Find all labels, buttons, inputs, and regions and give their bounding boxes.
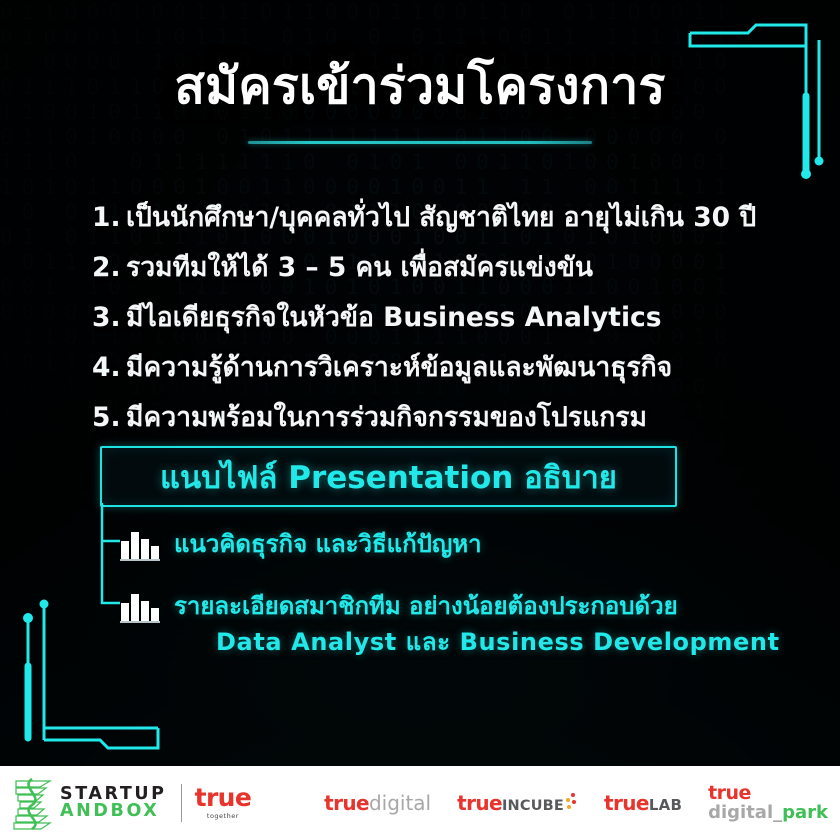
page-title: สมัครเข้าร่วมโครงการ bbox=[0, 58, 840, 116]
truedigital-digital: digital bbox=[369, 791, 431, 815]
tdp-park: park bbox=[782, 802, 828, 823]
sandbox-spiral-icon bbox=[10, 775, 56, 831]
footer-divider bbox=[181, 784, 182, 822]
attachment-heading-box: แนบไฟล์ Presentation อธิบาย bbox=[100, 446, 677, 507]
sandbox-wordmark: STARTUP ANDBOX bbox=[60, 786, 167, 821]
footer-left-logos: STARTUP ANDBOX true together bbox=[0, 775, 251, 831]
sandbox-line2: ANDBOX bbox=[60, 803, 167, 821]
startup-sandbox-logo: STARTUP ANDBOX bbox=[10, 775, 167, 831]
list-item-text: มีไอเดียธุรกิจในหัวข้อ Business Analytic… bbox=[126, 296, 662, 338]
list-item-number: 3. bbox=[92, 302, 126, 333]
list-item-number: 2. bbox=[92, 252, 126, 283]
list-item: 1. เป็นนักศึกษา/บุคคลทั่วไป สัญชาติไทย อ… bbox=[92, 196, 792, 246]
list-item: 5. มีความพร้อมในการร่วมกิจกรรมของโปรแกรม bbox=[92, 396, 792, 446]
attachment-item-line2: Data Analyst และ Business Development bbox=[174, 624, 780, 660]
true-wordmark: true bbox=[195, 786, 252, 810]
truelab-logo: true LAB bbox=[604, 791, 682, 815]
trueincube-incube: INCUBE bbox=[502, 798, 564, 814]
true-tagline: together bbox=[195, 812, 252, 820]
true-together-logo: true together bbox=[195, 786, 252, 821]
list-item-number: 1. bbox=[92, 202, 126, 233]
attachment-item-text: แนวคิดธุรกิจ และวิธีแก้ปัญหา bbox=[174, 526, 482, 562]
truedigital-true: true bbox=[324, 791, 369, 815]
footer-right-logos: true digital true INCUBE true LAB true bbox=[324, 784, 840, 822]
title-divider bbox=[248, 141, 592, 144]
attachment-item-line1: รายละเอียดสมาชิกทีม อย่างน้อยต้องประกอบด… bbox=[174, 592, 678, 620]
requirements-list: 1. เป็นนักศึกษา/บุคคลทั่วไป สัญชาติไทย อ… bbox=[92, 196, 792, 446]
list-item-text: มีความพร้อมในการร่วมกิจกรรมของโปรแกรม bbox=[126, 396, 647, 438]
poster-canvas: 0110001001110110001100110 01100011 01000… bbox=[0, 0, 840, 840]
truelab-lab: LAB bbox=[649, 796, 682, 814]
tdp-digital: digital_ bbox=[708, 802, 782, 823]
true-digital-park-logo: true digital_park bbox=[708, 784, 828, 822]
tdp-true: true bbox=[708, 784, 828, 803]
footer-bar: STARTUP ANDBOX true together true digita… bbox=[0, 766, 840, 840]
list-item: 3. มีไอเดียธุรกิจในหัวข้อ Business Analy… bbox=[92, 296, 792, 346]
bar-chart-icon bbox=[120, 591, 160, 623]
bar-chart-icon bbox=[120, 529, 160, 561]
truelab-true: true bbox=[604, 791, 649, 815]
attachment-heading-text: แนบไฟล์ Presentation อธิบาย bbox=[160, 452, 617, 502]
truedigital-logo: true digital bbox=[324, 791, 431, 815]
attachment-item-line1: แนวคิดธุรกิจ และวิธีแก้ปัญหา bbox=[174, 530, 482, 558]
list-item-text: รวมทีมให้ได้ 3 – 5 คน เพื่อสมัครแข่งขัน bbox=[126, 246, 593, 288]
attachment-item: แนวคิดธุรกิจ และวิธีแก้ปัญหา bbox=[120, 526, 482, 562]
list-item-number: 5. bbox=[92, 402, 126, 433]
tdp-digital-park: digital_park bbox=[708, 804, 828, 822]
trueincube-logo: true INCUBE bbox=[457, 791, 578, 815]
list-item-text: มีความรู้ด้านการวิเคราะห์ข้อมูลและพัฒนาธ… bbox=[126, 346, 672, 388]
attachment-item: รายละเอียดสมาชิกทีม อย่างน้อยต้องประกอบด… bbox=[120, 588, 780, 660]
incube-dots-icon bbox=[566, 792, 578, 810]
attachment-item-text: รายละเอียดสมาชิกทีม อย่างน้อยต้องประกอบด… bbox=[174, 588, 780, 660]
trueincube-true: true bbox=[457, 791, 502, 815]
list-item: 4. มีความรู้ด้านการวิเคราะห์ข้อมูลและพัฒ… bbox=[92, 346, 792, 396]
list-item: 2. รวมทีมให้ได้ 3 – 5 คน เพื่อสมัครแข่งข… bbox=[92, 246, 792, 296]
list-item-text: เป็นนักศึกษา/บุคคลทั่วไป สัญชาติไทย อายุ… bbox=[126, 196, 756, 238]
list-item-number: 4. bbox=[92, 352, 126, 383]
